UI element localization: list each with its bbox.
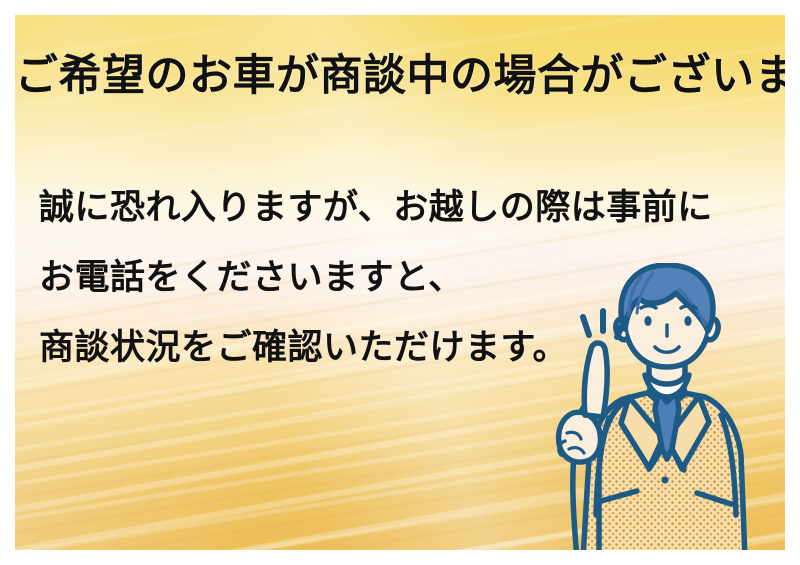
- body-text-block: 誠に恐れ入りますが、お越しの際は事前に お電話をくださいますと、 商談状況をご確…: [39, 173, 599, 383]
- businessman-illustration: [545, 263, 785, 550]
- body-line-2: お電話をくださいますと、: [39, 243, 599, 313]
- headline-text: ご希望のお車が商談中の場合がございます: [15, 55, 785, 98]
- body-line-1: 誠に恐れ入りますが、お越しの際は事前に: [39, 173, 599, 243]
- banner-artboard: ご希望のお車が商談中の場合がございます 誠に恐れ入りますが、お越しの際は事前に …: [15, 15, 785, 550]
- body-line-3: 商談状況をご確認いただけます。: [39, 313, 599, 383]
- announcement-banner: ご希望のお車が商談中の場合がございます 誠に恐れ入りますが、お越しの際は事前に …: [0, 0, 800, 565]
